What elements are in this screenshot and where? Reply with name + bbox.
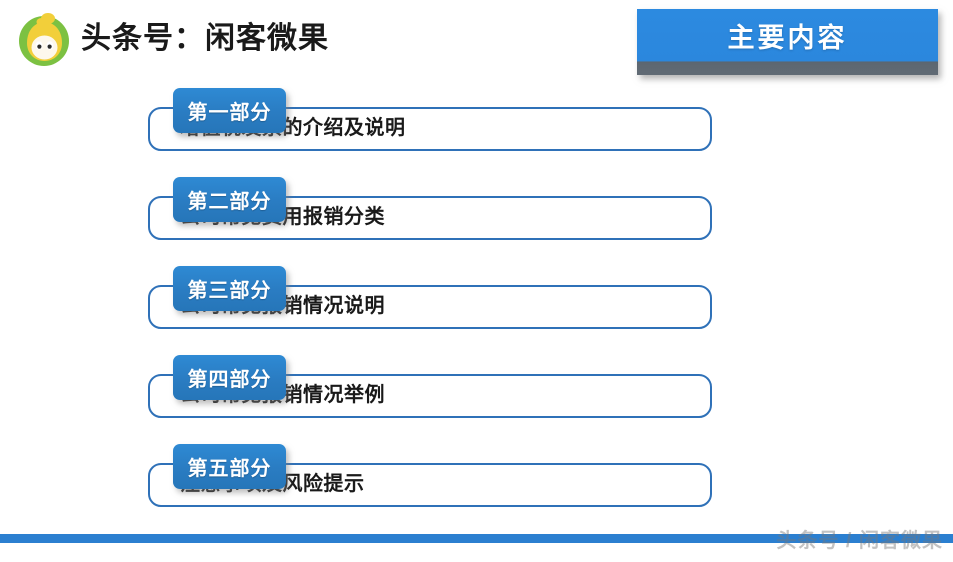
main-content-banner: 主要内容 <box>637 9 938 75</box>
section-list: 增值税发票的介绍及说明 第一部分 公司常见费用报销分类 第二部分 公司常见报销情… <box>0 86 953 531</box>
section-tag-label: 第五部分 <box>188 452 272 481</box>
brand-title: 头条号：闲客微果 <box>81 9 329 69</box>
toutiao-mascot-icon <box>14 9 74 69</box>
section-tag[interactable]: 第一部分 <box>173 88 286 133</box>
slide-canvas: 头条号：闲客微果 主要内容 增值税发票的介绍及说明 第一部分 公司常见费用报销分… <box>0 0 953 562</box>
section-tag[interactable]: 第四部分 <box>173 355 286 400</box>
section-tag-label: 第四部分 <box>188 363 272 392</box>
banner-title: 主要内容 <box>728 16 848 55</box>
section-row[interactable]: 增值税发票的介绍及说明 第一部分 <box>0 86 953 175</box>
section-tag[interactable]: 第五部分 <box>173 444 286 489</box>
section-tag-label: 第二部分 <box>188 185 272 214</box>
banner-inner: 主要内容 <box>637 9 938 62</box>
section-tag-label: 第三部分 <box>188 274 272 303</box>
section-tag-label: 第一部分 <box>188 96 272 125</box>
section-row[interactable]: 公司常见费用报销分类 第二部分 <box>0 175 953 264</box>
section-row[interactable]: 公司常见报销情况说明 第三部分 <box>0 264 953 353</box>
section-tag[interactable]: 第二部分 <box>173 177 286 222</box>
section-row[interactable]: 公司常见报销情况举例 第四部分 <box>0 353 953 442</box>
brand-block: 头条号：闲客微果 <box>14 9 329 69</box>
section-row[interactable]: 注意事项及风险提示 第五部分 <box>0 442 953 531</box>
section-tag[interactable]: 第三部分 <box>173 266 286 311</box>
footer-watermark: 头条号 / 闲客微果 <box>776 524 943 553</box>
slide-header: 头条号：闲客微果 主要内容 <box>0 0 953 86</box>
